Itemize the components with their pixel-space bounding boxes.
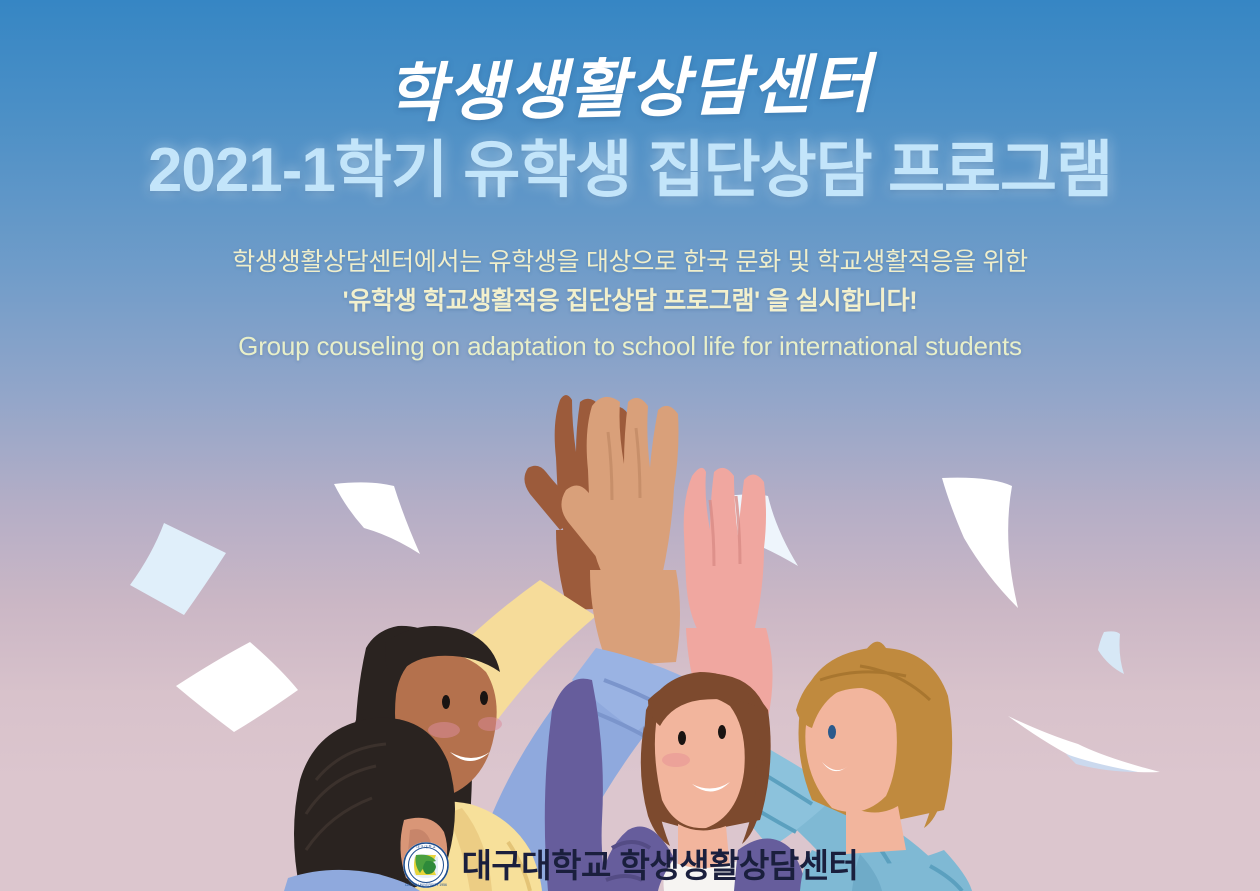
footer-bar: 대 구 대 학 교 DAEGU UNIVERSITY 1956 대구대학교 학생… (0, 841, 1260, 889)
svg-text:DAEGU UNIVERSITY 1956: DAEGU UNIVERSITY 1956 (405, 883, 447, 887)
page-title: 2021-1학기 유학생 집단상담 프로그램 (0, 138, 1260, 203)
poster-text-block: 학생생활상담센터 2021-1학기 유학생 집단상담 프로그램 학생생활상담센터… (0, 0, 1260, 365)
description-line-1: 학생생활상담센터에서는 유학생을 대상으로 한국 문화 및 학교생활적응을 위한 (0, 245, 1260, 281)
daegu-university-emblem-icon: 대 구 대 학 교 DAEGU UNIVERSITY 1956 (402, 841, 450, 889)
description-line-english: Group couseling on adaptation to school … (0, 328, 1260, 365)
description-block: 학생생활상담센터에서는 유학생을 대상으로 한국 문화 및 학교생활적응을 위한… (0, 245, 1260, 365)
poster-canvas: 학생생활상담센터 2021-1학기 유학생 집단상담 프로그램 학생생활상담센터… (0, 0, 1260, 891)
script-title: 학생생활상담센터 (0, 45, 1260, 135)
students-high-five-illustration (0, 380, 1260, 891)
footer-organization-name: 대구대학교 학생생활상담센터 (462, 849, 859, 882)
svg-text:대 구 대 학 교: 대 구 대 학 교 (416, 844, 435, 849)
description-line-2: '유학생 학교생활적응 집단상담 프로그램' 을 실시합니다! (0, 284, 1260, 320)
